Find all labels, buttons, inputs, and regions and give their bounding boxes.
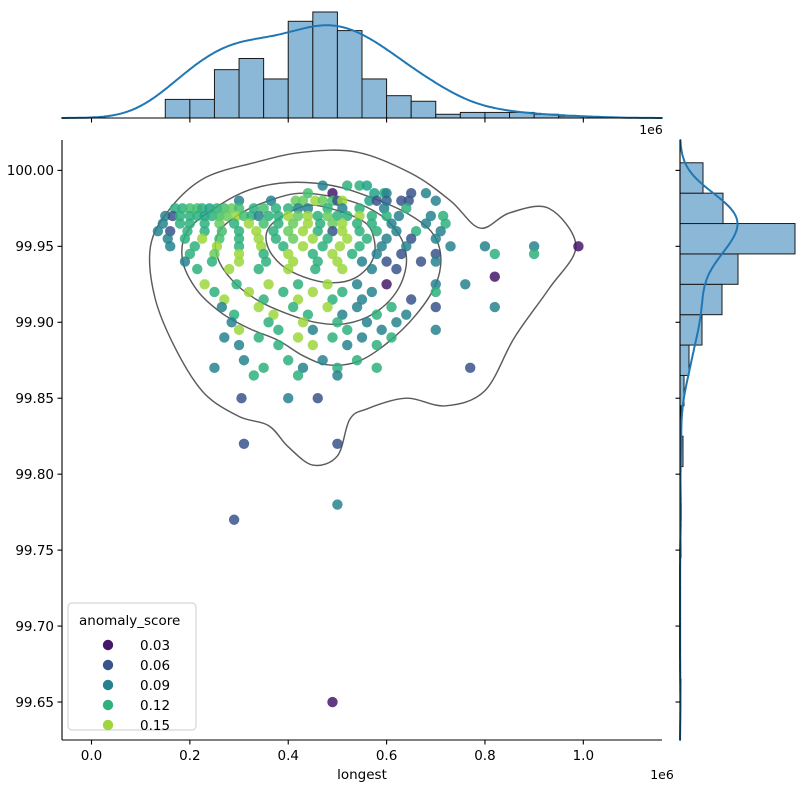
scatter-point <box>254 264 264 274</box>
scatter-point <box>342 340 352 350</box>
scatter-point <box>573 241 583 251</box>
scatter-point <box>332 370 342 380</box>
scatter-point <box>209 363 219 373</box>
marginal-y-bar <box>680 254 738 284</box>
scatter-point <box>381 279 391 289</box>
scatter-point <box>283 355 293 365</box>
marginal-x-bar <box>387 96 412 118</box>
scatter-point <box>231 279 241 289</box>
scatter-points <box>153 180 584 707</box>
scatter-point <box>347 249 357 259</box>
scatter-point <box>261 256 271 266</box>
legend-swatch <box>103 640 113 650</box>
scatter-point <box>480 241 490 251</box>
y-tick-label: 99.65 <box>15 695 54 711</box>
scatter-point <box>421 218 431 228</box>
scatter-point <box>327 332 337 342</box>
scatter-point <box>234 340 244 350</box>
scatter-point <box>308 287 318 297</box>
scatter-point <box>192 264 202 274</box>
marginal-x-bar <box>264 79 289 118</box>
scatter-point <box>357 332 367 342</box>
scatter-point <box>258 363 268 373</box>
jointplot-canvas: 99.6599.7099.7599.8099.8599.9099.95100.0… <box>0 0 800 800</box>
scatter-point <box>337 287 347 297</box>
scatter-point <box>254 302 264 312</box>
scatter-point <box>335 241 345 251</box>
scatter-point <box>327 697 337 707</box>
scatter-point <box>283 264 293 274</box>
scatter-point <box>372 249 382 259</box>
scatter-point <box>357 256 367 266</box>
scatter-point <box>207 256 217 266</box>
legend-swatch <box>103 700 113 710</box>
marginal-x-bar <box>411 101 436 118</box>
legend-entry-label[interactable]: 0.12 <box>140 698 170 714</box>
scatter-point <box>298 317 308 327</box>
scatter-point <box>342 234 352 244</box>
scatter-point <box>234 325 244 335</box>
marginal-x-bar <box>288 21 313 118</box>
scatter-point <box>317 180 327 190</box>
marginal-x-bar <box>190 99 215 118</box>
scatter-point <box>406 294 416 304</box>
scatter-point <box>362 317 372 327</box>
scatter-point <box>222 211 232 221</box>
scatter-point <box>239 355 249 365</box>
marginal-y-bar <box>680 345 689 375</box>
scatter-point <box>416 256 426 266</box>
marginal-y-axes <box>676 140 796 740</box>
scatter-point <box>175 218 185 228</box>
legend-swatch <box>103 660 113 670</box>
marginal-x-bar <box>362 79 387 118</box>
scatter-point <box>391 317 401 327</box>
scatter-point <box>352 302 362 312</box>
legend-entry-label[interactable]: 0.06 <box>140 658 170 674</box>
scatter-point <box>431 325 441 335</box>
marginal-x-bar <box>436 114 461 118</box>
scatter-point <box>421 188 431 198</box>
scatter-point <box>310 264 320 274</box>
scatter-point <box>529 249 539 259</box>
scatter-point <box>354 226 364 236</box>
scatter-point <box>229 515 239 525</box>
scatter-point <box>293 332 303 342</box>
scatter-point <box>322 302 332 312</box>
scatter-point <box>239 439 249 449</box>
legend[interactable]: anomaly_score 0.030.060.090.120.15 <box>68 603 196 734</box>
scatter-point <box>465 363 475 373</box>
scatter-point <box>313 393 323 403</box>
marginal-x-axes <box>62 12 662 123</box>
y-tick-label: 99.90 <box>15 315 54 331</box>
scatter-point <box>273 325 283 335</box>
scatter-point <box>401 203 411 213</box>
scatter-point <box>165 241 175 251</box>
scatter-point <box>342 180 352 190</box>
marginal-x-bar <box>337 31 362 118</box>
scatter-point <box>332 499 342 509</box>
x-tick-label: 0.8 <box>474 748 495 764</box>
scatter-point <box>226 317 236 327</box>
marginal-x-ticks <box>92 118 584 123</box>
scatter-point <box>308 234 318 244</box>
scatter-point <box>431 234 441 244</box>
scatter-point <box>490 302 500 312</box>
scatter-point <box>490 272 500 282</box>
scatter-point <box>332 439 342 449</box>
scatter-point <box>293 279 303 289</box>
scatter-point <box>180 234 190 244</box>
scatter-point <box>254 332 264 342</box>
y-tick-label: 99.75 <box>15 543 54 559</box>
marginal-x-bar <box>214 70 239 118</box>
scatter-point <box>271 234 281 244</box>
scatter-point <box>391 264 401 274</box>
scatter-point <box>431 302 441 312</box>
scatter-point <box>352 355 362 365</box>
scatter-point <box>283 393 293 403</box>
marginal-y-bar <box>680 163 703 193</box>
scatter-point <box>249 370 259 380</box>
jointplot-figure: 99.6599.7099.7599.8099.8599.9099.95100.0… <box>0 0 800 800</box>
scatter-point <box>273 340 283 350</box>
x-axis-ticks: 0.00.20.40.60.81.0 <box>81 740 594 764</box>
scatter-point <box>244 218 254 228</box>
marginal-x-bar <box>460 112 485 118</box>
scatter-point <box>234 256 244 266</box>
y-tick-label: 99.85 <box>15 391 54 407</box>
scatter-point <box>153 226 163 236</box>
legend-swatch <box>103 720 113 730</box>
y-axis-ticks: 99.6599.7099.7599.8099.8599.9099.95100.0… <box>7 163 62 711</box>
y-tick-label: 99.80 <box>15 467 54 483</box>
scatter-point <box>362 180 372 190</box>
scatter-point <box>263 317 273 327</box>
scatter-point <box>244 287 254 297</box>
x-tick-label: 0.6 <box>376 748 397 764</box>
x-tick-label: 0.0 <box>81 748 102 764</box>
marginal-x-bar <box>239 58 264 118</box>
scatter-point <box>199 279 209 289</box>
scatter-point <box>258 218 268 228</box>
y-tick-label: 100.00 <box>7 163 54 179</box>
scatter-point <box>317 241 327 251</box>
scatter-point <box>217 302 227 312</box>
legend-entry-label[interactable]: 0.09 <box>140 678 170 694</box>
scatter-point <box>372 226 382 236</box>
scatter-point <box>298 226 308 236</box>
scatter-point <box>396 249 406 259</box>
scatter-point <box>197 234 207 244</box>
scatter-point <box>317 355 327 365</box>
scatter-point <box>308 325 318 335</box>
kde-contours <box>150 150 576 465</box>
scatter-point <box>288 234 298 244</box>
scatter-point <box>352 279 362 289</box>
x-tick-label: 0.2 <box>179 748 200 764</box>
legend-entry-label[interactable]: 0.15 <box>140 718 170 734</box>
scatter-point <box>445 241 455 251</box>
scatter-point <box>431 256 441 266</box>
marginal-x-histogram <box>165 12 583 118</box>
legend-entry-label[interactable]: 0.03 <box>140 638 170 654</box>
scatter-point <box>394 211 404 221</box>
scatter-point <box>391 226 401 236</box>
scatter-point <box>308 340 318 350</box>
marginal-y-histogram <box>680 163 795 710</box>
scatter-point <box>367 264 377 274</box>
scatter-point <box>293 370 303 380</box>
scatter-point <box>367 287 377 297</box>
scatter-point <box>431 196 441 206</box>
scatter-point <box>372 363 382 373</box>
x-tick-label: 1.0 <box>573 748 594 764</box>
scatter-point <box>372 309 382 319</box>
x-tick-label: 0.4 <box>277 748 298 764</box>
kde-contour-level-1 <box>150 150 576 465</box>
marginal-x-bar <box>485 112 510 118</box>
legend-swatch <box>103 680 113 690</box>
scatter-point <box>342 325 352 335</box>
scatter-point <box>219 332 229 342</box>
scatter-point <box>332 317 342 327</box>
scatter-point <box>354 241 364 251</box>
y-tick-label: 99.95 <box>15 239 54 255</box>
scatter-point <box>460 279 470 289</box>
scatter-point <box>372 196 382 206</box>
scatter-point <box>401 309 411 319</box>
scatter-point <box>376 325 386 335</box>
scatter-point <box>322 279 332 289</box>
scatter-point <box>362 234 372 244</box>
scatter-point <box>298 241 308 251</box>
scatter-point <box>278 287 288 297</box>
y-axis-offset-text: 1e6 <box>639 122 663 137</box>
scatter-point <box>180 256 190 266</box>
x-axis-offset-text: 1e6 <box>650 767 674 782</box>
scatter-point <box>431 287 441 297</box>
marginal-x-bar <box>313 12 338 118</box>
marginal-y-bar <box>680 193 723 223</box>
scatter-point <box>372 340 382 350</box>
scatter-point <box>288 302 298 312</box>
x-axis-title: longest <box>337 767 387 783</box>
scatter-point <box>263 279 273 289</box>
legend-title: anomaly_score <box>79 613 180 629</box>
scatter-point <box>386 332 396 342</box>
scatter-point <box>381 256 391 266</box>
scatter-point <box>236 393 246 403</box>
y-tick-label: 99.70 <box>15 619 54 635</box>
scatter-point <box>224 264 234 274</box>
scatter-point <box>209 287 219 297</box>
scatter-point <box>490 249 500 259</box>
scatter-point <box>337 264 347 274</box>
marginal-x-bar <box>165 99 190 118</box>
scatter-point <box>386 302 396 312</box>
